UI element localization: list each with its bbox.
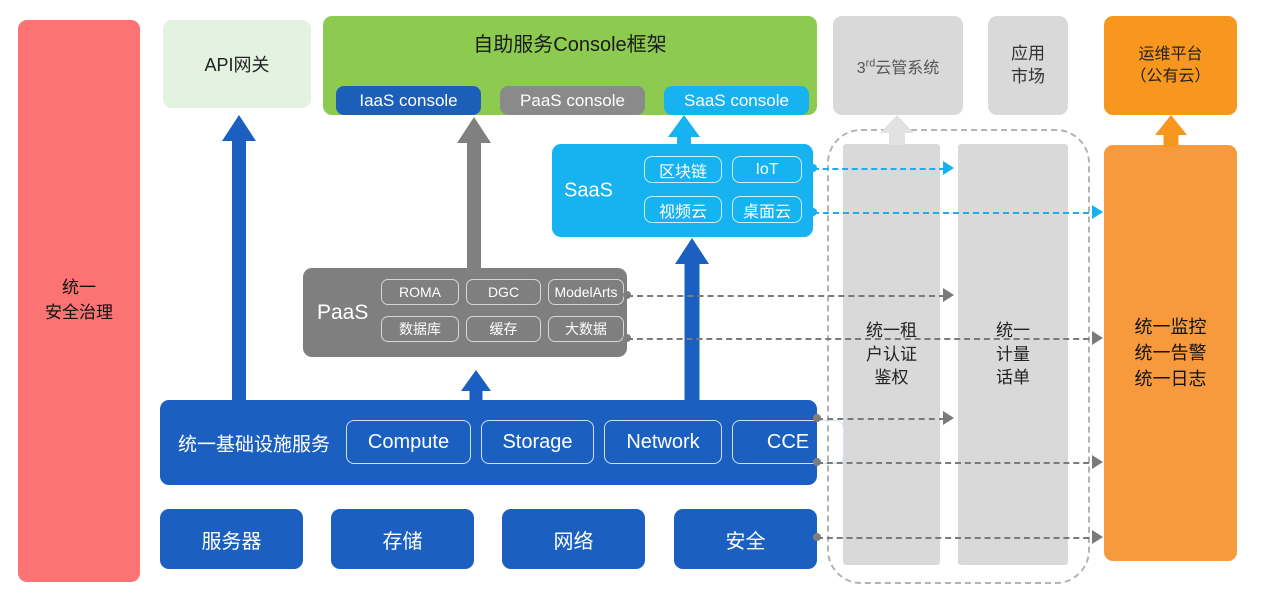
tenant-auth-line2: 户认证 bbox=[866, 343, 917, 367]
connector-line-saas-2 bbox=[813, 212, 1099, 214]
arrow-shared-to-ops-platform bbox=[1155, 115, 1187, 147]
connector-line-hardware bbox=[817, 537, 1099, 539]
saas-chip-desktop-cloud-label: 桌面云 bbox=[743, 198, 791, 222]
ops-platform-top-line2: （公有云） bbox=[1130, 66, 1210, 88]
saas-layer-label: SaaS bbox=[564, 179, 613, 202]
saas-chip-iot: IoT bbox=[732, 156, 802, 183]
third-cloud-label: 3rd云管系统 bbox=[857, 54, 940, 78]
iaas-chip-network-label: Network bbox=[626, 431, 699, 454]
ops-platform-top-line1: 运维平台 bbox=[1130, 44, 1210, 66]
console-chip-iaas: IaaS console bbox=[336, 86, 481, 115]
saas-chip-video-cloud-label: 视频云 bbox=[659, 198, 707, 222]
app-market-line1: 应用 bbox=[1011, 43, 1045, 66]
connector-line-iaas-2 bbox=[817, 462, 1099, 464]
paas-chip-database-label: 数据库 bbox=[399, 319, 441, 339]
console-chip-paas: PaaS console bbox=[500, 86, 645, 115]
saas-chip-blockchain: 区块链 bbox=[644, 156, 722, 183]
app-market-box: 应用 市场 bbox=[988, 16, 1068, 115]
connector-arrowhead-paas-1 bbox=[943, 288, 954, 302]
arrow-shared-to-third-cloud bbox=[880, 115, 914, 145]
arrow-saas-to-console bbox=[668, 115, 700, 149]
app-market-line2: 市场 bbox=[1011, 66, 1045, 89]
third-party-cloud-mgmt-box: 3rd云管系统 bbox=[833, 16, 963, 115]
paas-chip-modelarts: ModelArts bbox=[548, 279, 624, 305]
saas-chip-blockchain-label: 区块链 bbox=[659, 158, 707, 182]
console-chip-saas-label: SaaS console bbox=[684, 91, 789, 111]
third-cloud-prefix: 3 bbox=[857, 60, 866, 77]
iaas-chip-storage: Storage bbox=[481, 420, 594, 464]
hardware-box-storage: 存储 bbox=[331, 509, 474, 569]
paas-chip-bigdata: 大数据 bbox=[548, 316, 624, 342]
paas-chip-dgc-label: DGC bbox=[488, 284, 519, 300]
connector-arrowhead-saas-1 bbox=[943, 161, 954, 175]
connector-line-saas-1 bbox=[813, 168, 945, 170]
metering-billing-column: 统一 计量 话单 bbox=[958, 144, 1068, 565]
self-service-console-frame: 自助服务Console框架 IaaS console PaaS console … bbox=[323, 16, 817, 115]
paas-chip-cache: 缓存 bbox=[466, 316, 541, 342]
hardware-box-storage-label: 存储 bbox=[383, 525, 423, 554]
ops-platform-line2: 统一告警 bbox=[1135, 340, 1207, 366]
hardware-box-network: 网络 bbox=[502, 509, 645, 569]
paas-chip-roma-label: ROMA bbox=[399, 284, 441, 300]
iaas-chip-network: Network bbox=[604, 420, 722, 464]
connector-line-paas-1 bbox=[627, 295, 945, 297]
tenant-auth-column: 统一租 户认证 鉴权 bbox=[843, 144, 940, 565]
ops-platform-body-box: 统一监控 统一告警 统一日志 bbox=[1104, 145, 1237, 561]
arrow-iaas-to-api-gateway bbox=[222, 115, 256, 403]
ops-platform-header-box: 运维平台 （公有云） bbox=[1104, 16, 1237, 115]
arrow-iaas-to-paas bbox=[461, 370, 491, 403]
paas-layer-box: PaaS ROMA DGC ModelArts 数据库 缓存 大数据 bbox=[303, 268, 627, 357]
paas-chip-roma: ROMA bbox=[381, 279, 459, 305]
arrow-iaas-to-saas bbox=[675, 238, 709, 404]
security-governance-pillar: 统一 安全治理 bbox=[18, 20, 140, 582]
iaas-chip-storage-label: Storage bbox=[502, 431, 572, 454]
api-gateway-label: API网关 bbox=[204, 51, 269, 77]
paas-chip-cache-label: 缓存 bbox=[490, 319, 518, 339]
metering-line2: 计量 bbox=[996, 343, 1030, 367]
connector-arrowhead-hardware bbox=[1092, 530, 1103, 544]
paas-chip-bigdata-label: 大数据 bbox=[565, 319, 607, 339]
arrow-paas-to-console bbox=[457, 117, 491, 272]
security-pillar-line1: 统一 bbox=[45, 276, 113, 301]
paas-chip-database: 数据库 bbox=[381, 316, 459, 342]
paas-layer-label: PaaS bbox=[317, 301, 368, 325]
connector-line-iaas-1 bbox=[817, 418, 945, 420]
unified-infrastructure-bar: 统一基础设施服务 Compute Storage Network CCE bbox=[160, 400, 817, 485]
hardware-box-server-label: 服务器 bbox=[202, 525, 262, 554]
hardware-box-security: 安全 bbox=[674, 509, 817, 569]
tenant-auth-line3: 鉴权 bbox=[866, 366, 917, 390]
ops-platform-line3: 统一日志 bbox=[1135, 366, 1207, 392]
third-cloud-sup: rd bbox=[866, 57, 876, 69]
iaas-chip-cce-label: CCE bbox=[767, 431, 809, 454]
iaas-chip-compute-label: Compute bbox=[368, 431, 449, 454]
iaas-bar-label: 统一基础设施服务 bbox=[178, 429, 330, 456]
paas-chip-dgc: DGC bbox=[466, 279, 541, 305]
connector-arrowhead-paas-2 bbox=[1092, 331, 1103, 345]
hardware-box-security-label: 安全 bbox=[726, 525, 766, 554]
connector-line-paas-2 bbox=[627, 338, 1099, 340]
third-cloud-suffix: 云管系统 bbox=[875, 60, 939, 77]
hardware-box-network-label: 网络 bbox=[554, 525, 594, 554]
saas-chip-iot-label: IoT bbox=[755, 161, 778, 179]
security-pillar-line2: 安全治理 bbox=[45, 301, 113, 326]
ops-platform-line1: 统一监控 bbox=[1135, 314, 1207, 340]
paas-chip-modelarts-label: ModelArts bbox=[554, 284, 617, 300]
api-gateway-box: API网关 bbox=[163, 20, 311, 108]
console-chip-paas-label: PaaS console bbox=[520, 91, 625, 111]
saas-chip-video-cloud: 视频云 bbox=[644, 196, 722, 223]
saas-chip-desktop-cloud: 桌面云 bbox=[732, 196, 802, 223]
connector-arrowhead-saas-2 bbox=[1092, 205, 1103, 219]
console-chip-saas: SaaS console bbox=[664, 86, 809, 115]
console-chip-iaas-label: IaaS console bbox=[359, 91, 457, 111]
hardware-box-server: 服务器 bbox=[160, 509, 303, 569]
iaas-chip-compute: Compute bbox=[346, 420, 471, 464]
architecture-diagram: 统一 安全治理 API网关 自助服务Console框架 IaaS console… bbox=[0, 0, 1265, 605]
console-frame-title: 自助服务Console框架 bbox=[323, 28, 817, 57]
iaas-chip-cce: CCE bbox=[732, 420, 844, 464]
metering-line3: 话单 bbox=[996, 366, 1030, 390]
connector-arrowhead-iaas-2 bbox=[1092, 455, 1103, 469]
saas-layer-box: SaaS 区块链 IoT 视频云 桌面云 bbox=[552, 144, 813, 237]
connector-arrowhead-iaas-1 bbox=[943, 411, 954, 425]
